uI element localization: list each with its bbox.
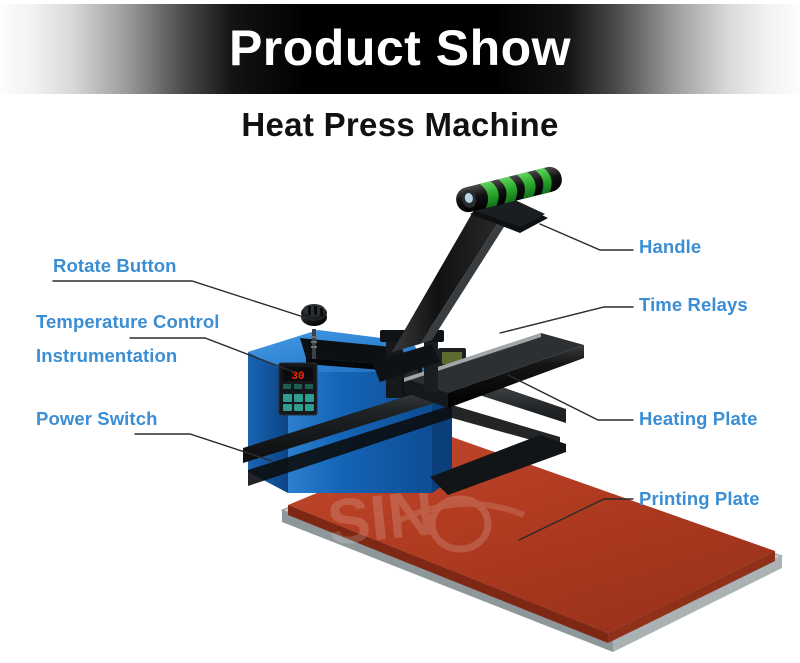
callout-label: Time Relays xyxy=(639,294,748,315)
callout-label-line1: Temperature Control xyxy=(36,305,220,339)
temperature-controller: 30 xyxy=(279,363,317,415)
callout-temperature-control-instrumentation: Temperature Control Instrumentation xyxy=(36,305,220,373)
callout-power-switch: Power Switch xyxy=(36,408,157,430)
callout-heating-plate: Heating Plate xyxy=(639,408,758,430)
callout-printing-plate: Printing Plate xyxy=(639,488,760,510)
display-value: 30 xyxy=(291,371,304,383)
callout-label-line2: Instrumentation xyxy=(36,339,220,373)
callout-label: Handle xyxy=(639,236,701,257)
callout-handle: Handle xyxy=(639,236,701,258)
callout-label: Heating Plate xyxy=(639,408,758,429)
callout-label: Rotate Button xyxy=(53,255,177,276)
product-show-page: Product Show Heat Press Machine xyxy=(0,0,800,663)
callout-rotate-button: Rotate Button xyxy=(53,255,177,277)
callout-label: Power Switch xyxy=(36,408,157,429)
callout-time-relays: Time Relays xyxy=(639,294,748,316)
callout-label: Printing Plate xyxy=(639,488,760,509)
